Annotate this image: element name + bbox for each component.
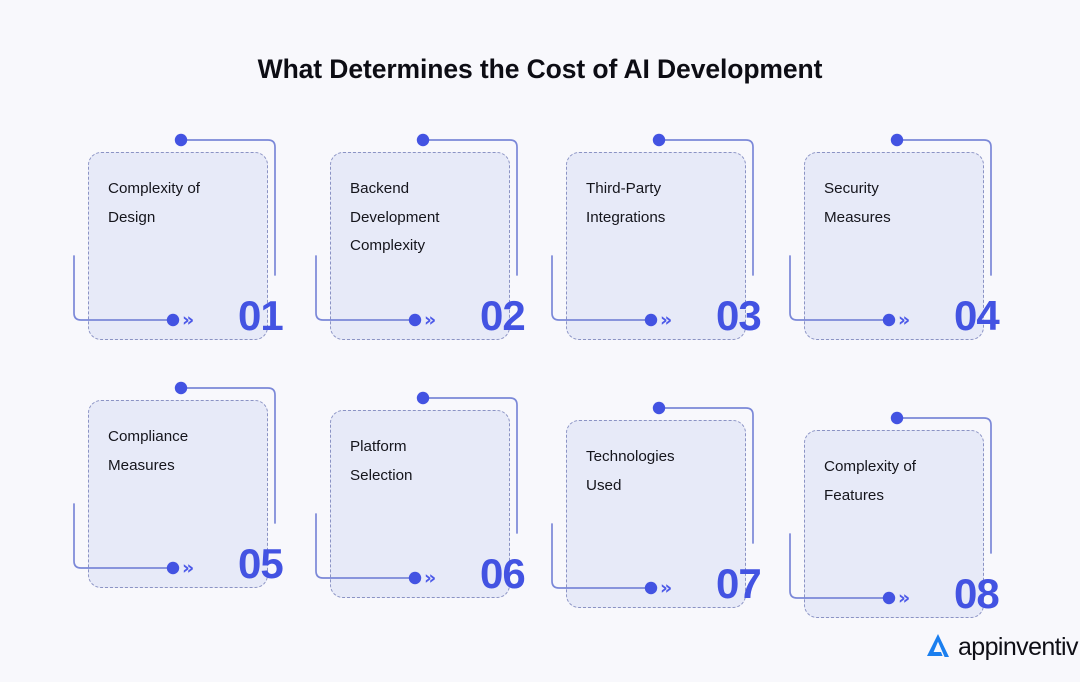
card-number: 01	[238, 295, 283, 337]
card-06[interactable]: »06Platform Selection	[312, 388, 554, 618]
double-chevron-icon: »	[898, 311, 910, 330]
connector-dot-bottom	[645, 582, 657, 594]
card-02[interactable]: »02Backend Development Complexity	[312, 130, 554, 360]
brand-logo: appinventiv	[922, 628, 1058, 668]
connector-dot-top	[417, 134, 429, 146]
card-label: Technologies Used	[586, 443, 751, 500]
connector-dot-bottom	[167, 562, 179, 574]
connector-dot-top	[417, 392, 429, 404]
card-08[interactable]: »08Complexity of Features	[786, 408, 1028, 638]
double-chevron-icon: »	[660, 311, 672, 330]
double-chevron-icon: »	[424, 569, 436, 588]
double-chevron-icon: »	[898, 589, 910, 608]
card-label: Third-Party Integrations	[586, 175, 751, 232]
card-number: 03	[716, 295, 761, 337]
connector-dot-top	[175, 134, 187, 146]
connector-dot-bottom	[167, 314, 179, 326]
card-number: 08	[954, 573, 999, 615]
card-label: Platform Selection	[350, 433, 515, 490]
double-chevron-icon: »	[424, 311, 436, 330]
connector-dot-top	[653, 402, 665, 414]
connector-dot-top	[891, 134, 903, 146]
card-number: 04	[954, 295, 999, 337]
card-05[interactable]: »05Compliance Measures	[70, 378, 312, 608]
infographic-canvas: What Determines the Cost of AI Developme…	[0, 0, 1080, 682]
card-number: 06	[480, 553, 525, 595]
card-number: 07	[716, 563, 761, 605]
double-chevron-icon: »	[660, 579, 672, 598]
card-label: Backend Development Complexity	[350, 175, 515, 261]
connector-dot-bottom	[409, 314, 421, 326]
card-number: 05	[238, 543, 283, 585]
double-chevron-icon: »	[182, 559, 194, 578]
card-label: Compliance Measures	[108, 423, 273, 480]
card-label: Complexity of Features	[824, 453, 989, 510]
connector-dot-top	[175, 382, 187, 394]
connector-dot-bottom	[409, 572, 421, 584]
connector-dot-bottom	[883, 314, 895, 326]
card-label: Complexity of Design	[108, 175, 273, 232]
card-label: Security Measures	[824, 175, 989, 232]
appinventiv-a-mark-icon	[922, 630, 954, 667]
card-01[interactable]: »01Complexity of Design	[70, 130, 312, 360]
brand-logo-text: appinventiv	[958, 632, 1078, 662]
double-chevron-icon: »	[182, 311, 194, 330]
card-04[interactable]: »04Security Measures	[786, 130, 1028, 360]
card-07[interactable]: »07Technologies Used	[548, 398, 790, 628]
connector-dot-top	[891, 412, 903, 424]
card-03[interactable]: »03Third-Party Integrations	[548, 130, 790, 360]
connector-dot-bottom	[645, 314, 657, 326]
connector-dot-top	[653, 134, 665, 146]
connector-dot-bottom	[883, 592, 895, 604]
card-number: 02	[480, 295, 525, 337]
page-title: What Determines the Cost of AI Developme…	[0, 52, 1080, 86]
